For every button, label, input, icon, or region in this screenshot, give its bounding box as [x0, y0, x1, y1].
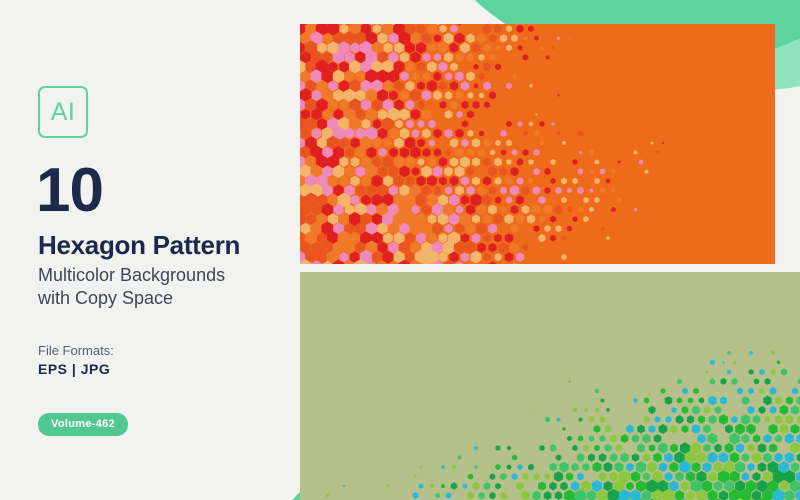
- orange-hexagon-pattern: [300, 24, 775, 264]
- file-formats-value: EPS | JPG: [38, 361, 110, 377]
- green-hexagon-pattern: [300, 272, 800, 500]
- poster-canvas: AI 10 Hexagon Pattern Multicolor Backgro…: [0, 0, 800, 500]
- file-formats-label: File Formats:: [38, 343, 114, 358]
- ai-badge-label: AI: [51, 98, 76, 127]
- orange-hexagon-preview: [300, 24, 775, 264]
- page-subtitle-line-2: with Copy Space: [38, 287, 288, 310]
- page-subtitle: Multicolor Backgrounds with Copy Space: [38, 264, 288, 309]
- page-title: Hexagon Pattern: [38, 232, 240, 259]
- item-count: 10: [36, 160, 103, 222]
- ai-format-badge: AI: [38, 86, 88, 138]
- green-hexagon-preview: [300, 272, 800, 500]
- volume-badge: Volume-462: [38, 413, 128, 436]
- info-column: AI 10 Hexagon Pattern Multicolor Backgro…: [36, 0, 294, 500]
- page-subtitle-line-1: Multicolor Backgrounds: [38, 264, 288, 287]
